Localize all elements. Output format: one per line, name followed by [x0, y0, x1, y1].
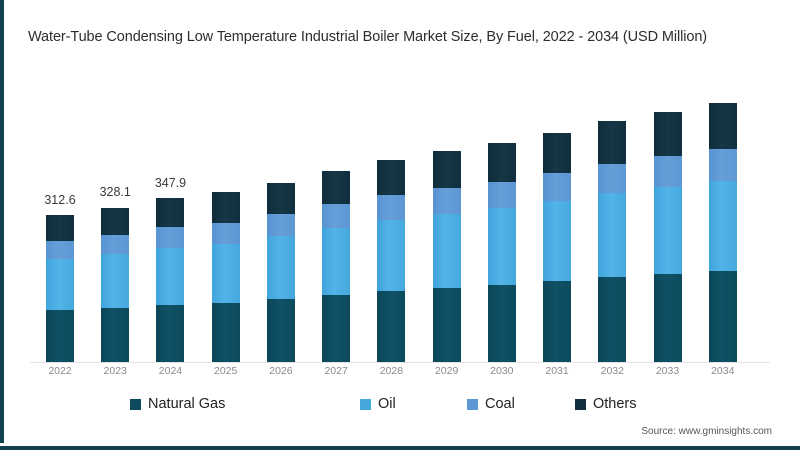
bar-segment-coal-2026[interactable]	[267, 214, 295, 236]
x-tick-2026: 2026	[261, 365, 301, 377]
bar-segment-coal-2027[interactable]	[322, 204, 350, 228]
bar-column-2023[interactable]	[101, 208, 129, 363]
bar-segment-oil-2030[interactable]	[488, 208, 516, 284]
bar-segment-natural-gas-2024[interactable]	[156, 305, 184, 362]
bar-segment-others-2028[interactable]	[377, 160, 405, 195]
x-axis-tick-labels: 2022202320242025202620272028202920302031…	[30, 365, 770, 381]
bar-value-label-2024: 347.9	[130, 176, 210, 190]
bar-segment-oil-2034[interactable]	[709, 181, 737, 271]
x-tick-2029: 2029	[427, 365, 467, 377]
bar-segment-oil-2022[interactable]	[46, 259, 74, 310]
bar-segment-coal-2029[interactable]	[433, 188, 461, 214]
bar-segment-others-2023[interactable]	[101, 208, 129, 236]
bar-column-2026[interactable]	[267, 183, 295, 362]
chart-legend: Natural GasOilCoalOthers	[30, 396, 770, 420]
bar-segment-others-2033[interactable]	[654, 112, 682, 156]
x-axis-line	[30, 362, 770, 363]
x-tick-2033: 2033	[648, 365, 688, 377]
bar-column-2031[interactable]	[543, 133, 571, 362]
bar-column-2033[interactable]	[654, 112, 682, 362]
bar-segment-others-2030[interactable]	[488, 143, 516, 182]
bar-segment-coal-2034[interactable]	[709, 149, 737, 181]
bar-column-2028[interactable]	[377, 160, 405, 362]
bar-segment-coal-2028[interactable]	[377, 195, 405, 220]
bar-segment-oil-2031[interactable]	[543, 201, 571, 281]
legend-item-others[interactable]: Others	[575, 396, 637, 412]
bar-segment-natural-gas-2030[interactable]	[488, 285, 516, 362]
legend-label: Coal	[485, 396, 515, 412]
square-swatch-icon	[360, 399, 371, 410]
bar-segment-coal-2022[interactable]	[46, 241, 74, 259]
bar-segment-natural-gas-2023[interactable]	[101, 308, 129, 362]
bar-segment-coal-2030[interactable]	[488, 182, 516, 209]
source-caption: Source: www.gminsights.com	[641, 426, 772, 437]
bar-segment-coal-2025[interactable]	[212, 223, 240, 244]
left-border-strip	[0, 0, 7, 450]
x-tick-2022: 2022	[40, 365, 80, 377]
bar-segment-natural-gas-2034[interactable]	[709, 271, 737, 362]
x-tick-2025: 2025	[206, 365, 246, 377]
square-swatch-icon	[575, 399, 586, 410]
bar-column-2030[interactable]	[488, 143, 516, 362]
bar-segment-oil-2033[interactable]	[654, 187, 682, 274]
bar-segment-others-2027[interactable]	[322, 171, 350, 204]
chart-image: Water-Tube Condensing Low Temperature In…	[0, 0, 800, 450]
bottom-border-strip	[0, 443, 800, 450]
x-tick-2024: 2024	[150, 365, 190, 377]
bar-segment-natural-gas-2025[interactable]	[212, 303, 240, 362]
x-tick-2030: 2030	[482, 365, 522, 377]
bar-segment-others-2032[interactable]	[598, 121, 626, 163]
bar-segment-others-2029[interactable]	[433, 151, 461, 188]
bar-segment-natural-gas-2032[interactable]	[598, 277, 626, 362]
square-swatch-icon	[130, 399, 141, 410]
bar-segment-others-2031[interactable]	[543, 133, 571, 173]
bar-segment-oil-2026[interactable]	[267, 236, 295, 299]
legend-label: Oil	[378, 396, 396, 412]
bar-segment-oil-2023[interactable]	[101, 254, 129, 308]
bar-segment-natural-gas-2029[interactable]	[433, 288, 461, 362]
bar-segment-oil-2024[interactable]	[156, 248, 184, 305]
legend-item-oil[interactable]: Oil	[360, 396, 396, 412]
bar-segment-oil-2032[interactable]	[598, 193, 626, 277]
x-tick-2028: 2028	[371, 365, 411, 377]
bar-segment-others-2026[interactable]	[267, 183, 295, 215]
bar-segment-oil-2025[interactable]	[212, 244, 240, 303]
bar-segment-natural-gas-2033[interactable]	[654, 274, 682, 362]
top-edge-strip	[0, 0, 800, 3]
bar-column-2029[interactable]	[433, 151, 461, 362]
bar-segment-others-2025[interactable]	[212, 192, 240, 223]
bar-segment-natural-gas-2026[interactable]	[267, 299, 295, 362]
x-tick-2027: 2027	[316, 365, 356, 377]
x-tick-2032: 2032	[592, 365, 632, 377]
bar-segment-natural-gas-2031[interactable]	[543, 281, 571, 362]
legend-item-natural-gas[interactable]: Natural Gas	[130, 396, 225, 412]
x-tick-2031: 2031	[537, 365, 577, 377]
bar-segment-others-2034[interactable]	[709, 103, 737, 148]
legend-item-coal[interactable]: Coal	[467, 396, 515, 412]
bar-segment-others-2024[interactable]	[156, 198, 184, 227]
x-tick-2023: 2023	[95, 365, 135, 377]
chart-title: Water-Tube Condensing Low Temperature In…	[28, 29, 778, 45]
bar-segment-oil-2027[interactable]	[322, 228, 350, 295]
square-swatch-icon	[467, 399, 478, 410]
bar-column-2024[interactable]	[156, 198, 184, 362]
bar-segment-coal-2031[interactable]	[543, 173, 571, 201]
bar-column-2027[interactable]	[322, 171, 350, 362]
bar-segment-natural-gas-2022[interactable]	[46, 310, 74, 362]
bar-segment-coal-2023[interactable]	[101, 235, 129, 254]
bar-segment-oil-2028[interactable]	[377, 220, 405, 291]
bar-segment-oil-2029[interactable]	[433, 214, 461, 287]
bar-segment-coal-2033[interactable]	[654, 156, 682, 187]
bar-segment-coal-2032[interactable]	[598, 164, 626, 194]
plot-area: 312.6328.1347.9	[30, 70, 770, 362]
bar-segment-natural-gas-2028[interactable]	[377, 291, 405, 362]
bar-segment-coal-2024[interactable]	[156, 227, 184, 247]
bar-segment-others-2022[interactable]	[46, 215, 74, 242]
bar-column-2032[interactable]	[598, 121, 626, 362]
bar-column-2034[interactable]	[709, 103, 737, 362]
bar-column-2025[interactable]	[212, 192, 240, 362]
legend-label: Others	[593, 396, 637, 412]
bar-segment-natural-gas-2027[interactable]	[322, 295, 350, 362]
x-tick-2034: 2034	[703, 365, 743, 377]
bar-column-2022[interactable]	[46, 215, 74, 362]
legend-label: Natural Gas	[148, 396, 225, 412]
